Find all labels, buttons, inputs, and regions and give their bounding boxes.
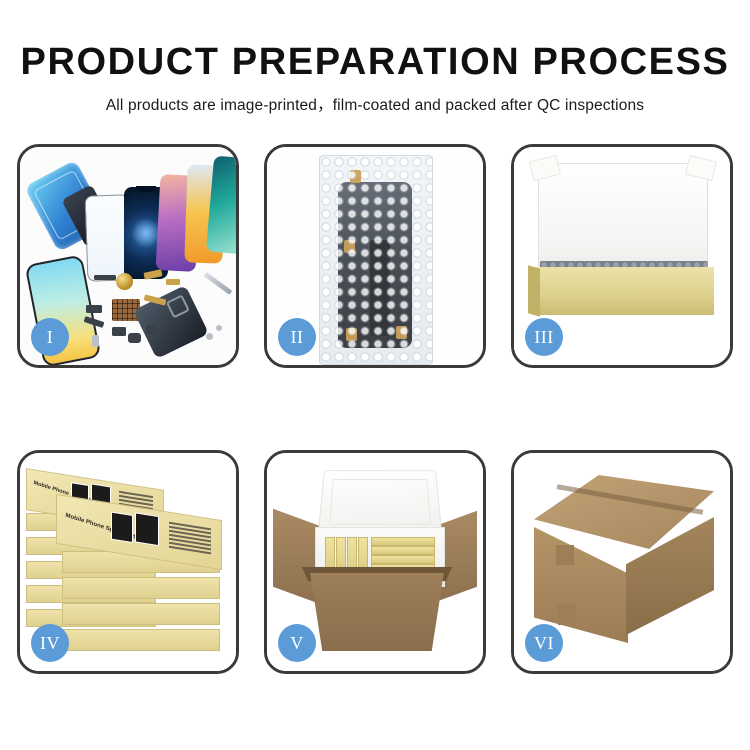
gold-coil-icon (116, 273, 133, 290)
carton-hand-hole (558, 605, 576, 625)
flex-cable-icon (166, 279, 180, 285)
box-product-thumbnail (135, 512, 159, 546)
tape-piece-icon (350, 170, 361, 183)
process-step-panel-5[interactable]: V (264, 450, 486, 674)
stacked-box-edge (62, 603, 220, 625)
step-badge-5: V (278, 624, 316, 662)
part-strip-icon (94, 275, 116, 280)
process-step-panel-6[interactable]: VI (511, 450, 733, 674)
carton-body (301, 573, 453, 651)
step-badge-3: III (525, 318, 563, 356)
page-subtitle: All products are image-printed，film-coat… (0, 83, 750, 115)
step-badge-2: II (278, 318, 316, 356)
speaker-icon (128, 333, 141, 343)
step-badge-1: I (31, 318, 69, 356)
camera-module-icon (112, 327, 126, 336)
carton-hand-hole (556, 545, 574, 565)
tape-piece-icon (346, 328, 357, 341)
page-title: PRODUCT PREPARATION PROCESS (0, 0, 750, 83)
sim-tray-icon (92, 335, 99, 347)
process-step-grid: I II III (17, 144, 733, 674)
tape-piece-icon (344, 240, 355, 253)
box-product-thumbnail (111, 512, 133, 543)
bubble-wrap-bag-icon (319, 155, 433, 365)
step-badge-6: VI (525, 624, 563, 662)
foam-lid-icon (318, 470, 443, 535)
box-spec-lines (169, 522, 211, 557)
tweezers-icon (204, 272, 233, 295)
process-step-panel-4[interactable]: Mobile Phone Spare Parts Mobile (17, 450, 239, 674)
connector-icon (86, 305, 102, 313)
ic-chip-icon (146, 325, 155, 334)
kraft-box-tray-icon (532, 267, 714, 315)
yellow-box-icon (371, 546, 435, 555)
process-step-panel-1[interactable]: I (17, 144, 239, 368)
stacked-box-edge (62, 577, 220, 599)
process-step-panel-2[interactable]: II (264, 144, 486, 368)
page-header: PRODUCT PREPARATION PROCESS All products… (0, 0, 750, 115)
screw-icon (206, 333, 213, 340)
yellow-box-icon (371, 537, 435, 546)
yellow-box-icon (371, 555, 435, 564)
process-step-panel-3[interactable]: III (511, 144, 733, 368)
wrapped-phone-part-icon (338, 182, 412, 348)
screw-icon (216, 325, 222, 331)
stacked-box-edge (62, 629, 220, 651)
step-badge-4: IV (31, 624, 69, 662)
tape-piece-icon (396, 326, 407, 339)
